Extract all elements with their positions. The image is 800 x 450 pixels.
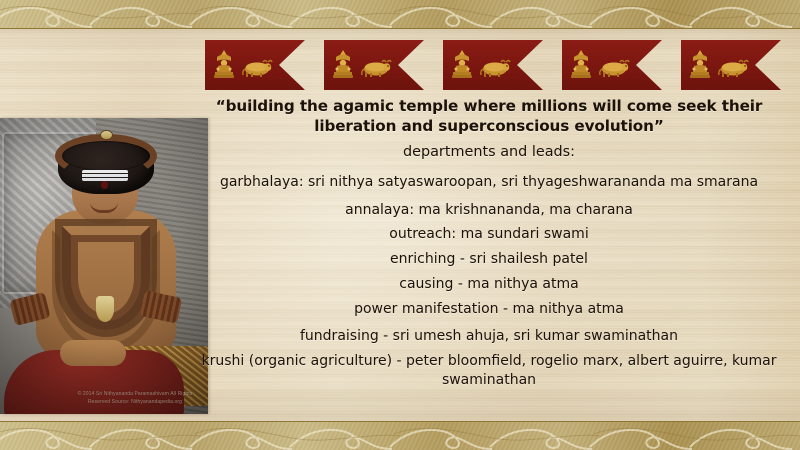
top-gold-border: [0, 0, 800, 29]
pennant-flag: [681, 40, 781, 90]
deity-icon: [688, 49, 712, 79]
pennant-flag: [443, 40, 543, 90]
guru-portrait-photo: © 2014 Sri Nithyananda Paramashivam All …: [0, 118, 208, 414]
department-entry: annalaya: ma krishnananda, ma charana: [186, 201, 792, 220]
pennant-flag: [324, 40, 424, 90]
bottom-gold-border: [0, 421, 800, 450]
vision-quote: “building the agamic temple where millio…: [186, 96, 792, 136]
nandi-bull-icon: [479, 57, 511, 79]
department-entry: power manifestation - ma nithya atma: [186, 300, 792, 319]
flag-emblem-group: [450, 49, 511, 79]
department-entry: garbhalaya: sri nithya satyaswaroopan, s…: [186, 173, 792, 192]
nandi-bull-icon: [717, 57, 749, 79]
flag-emblem-group: [331, 49, 392, 79]
deity-icon: [212, 49, 236, 79]
slide-canvas: © 2014 Sri Nithyananda Paramashivam All …: [0, 0, 800, 450]
nandi-bull-icon: [598, 57, 630, 79]
department-entry: krushi (organic agriculture) - peter blo…: [186, 352, 792, 390]
pennant-flag-row: [205, 40, 781, 90]
nandi-bull-icon: [360, 57, 392, 79]
nandi-bull-icon: [241, 57, 273, 79]
departments-list: garbhalaya: sri nithya satyaswaroopan, s…: [186, 173, 792, 390]
department-entry: enriching - sri shailesh patel: [186, 250, 792, 269]
section-subheading: departments and leads:: [186, 143, 792, 162]
deity-icon: [569, 49, 593, 79]
copyright-watermark: © 2014 Sri Nithyananda Paramashivam All …: [72, 391, 198, 406]
deity-icon: [331, 49, 355, 79]
department-entry: fundraising - sri umesh ahuja, sri kumar…: [186, 327, 792, 346]
flag-emblem-group: [212, 49, 273, 79]
slide-text-content: “building the agamic temple where millio…: [186, 96, 792, 408]
flag-emblem-group: [569, 49, 630, 79]
photo-vignette: [0, 118, 208, 414]
flag-emblem-group: [688, 49, 749, 79]
pennant-flag: [205, 40, 305, 90]
pennant-flag: [562, 40, 662, 90]
department-entry: causing - ma nithya atma: [186, 275, 792, 294]
department-entry: outreach: ma sundari swami: [186, 225, 792, 244]
deity-icon: [450, 49, 474, 79]
